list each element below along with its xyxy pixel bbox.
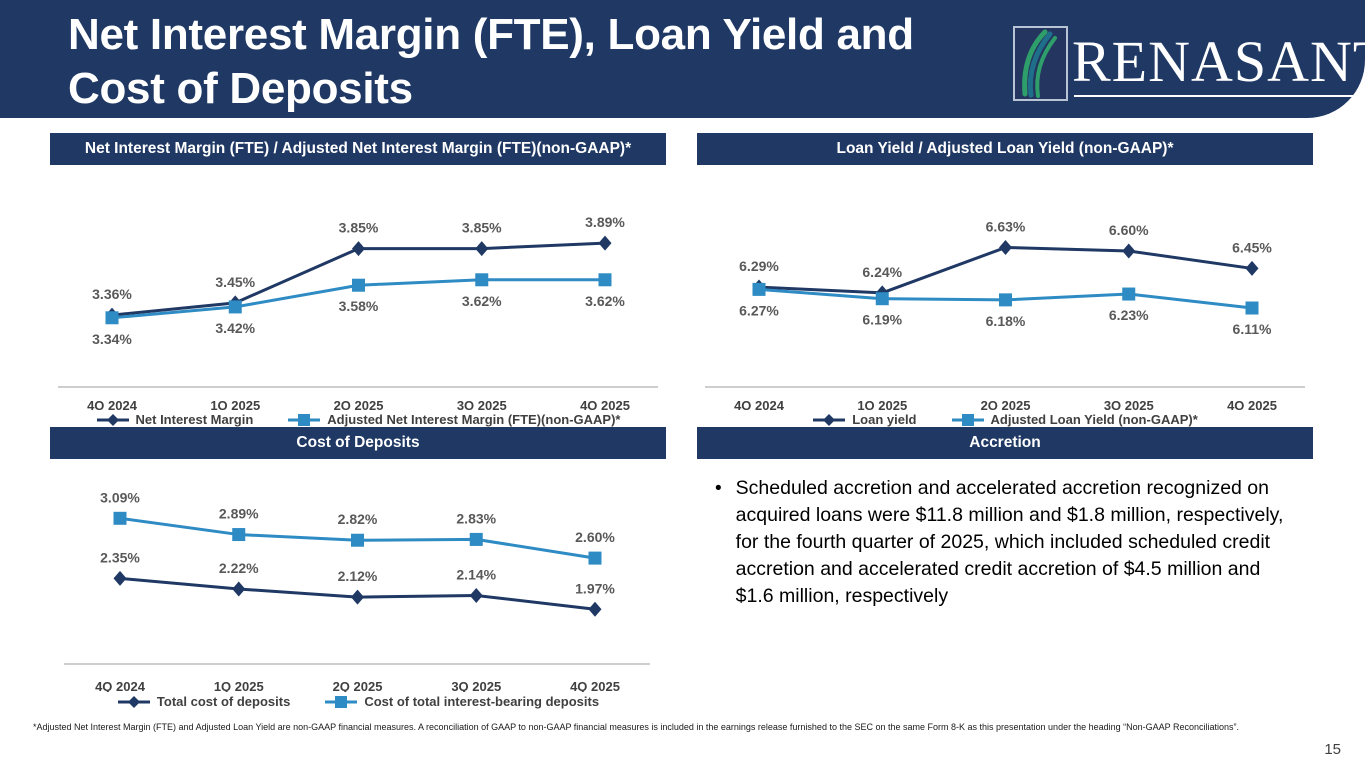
svg-text:4Q 2025: 4Q 2025 <box>580 398 630 410</box>
svg-text:1Q 2025: 1Q 2025 <box>857 398 907 410</box>
svg-text:2Q 2025: 2Q 2025 <box>334 398 384 410</box>
list-item: • Scheduled accretion and accelerated ac… <box>715 475 1299 610</box>
legend-marker-square-icon <box>951 414 985 426</box>
panel-loan-yield: Loan Yield / Adjusted Loan Yield (non-GA… <box>697 133 1313 427</box>
svg-text:2.60%: 2.60% <box>575 529 615 545</box>
legend-label-nim-1: Adjusted Net Interest Margin (FTE)(non-G… <box>327 412 620 427</box>
chart-canvas-nim: 3.36%3.45%3.85%3.85%3.89%3.34%3.42%3.58%… <box>50 165 666 410</box>
svg-text:3.34%: 3.34% <box>92 331 132 347</box>
legend-label-loan-yield-1: Adjusted Loan Yield (non-GAAP)* <box>991 412 1198 427</box>
svg-text:6.27%: 6.27% <box>739 302 779 318</box>
legend-label-cost-of-deposits-0: Total cost of deposits <box>157 694 290 709</box>
accretion-content: • Scheduled accretion and accelerated ac… <box>697 459 1313 610</box>
legend-item-nim-1[interactable]: Adjusted Net Interest Margin (FTE)(non-G… <box>287 412 620 427</box>
svg-text:6.60%: 6.60% <box>1109 222 1149 238</box>
svg-text:3Q 2025: 3Q 2025 <box>457 398 507 410</box>
page-title: Net Interest Margin (FTE), Loan Yield an… <box>68 8 968 116</box>
panel-title-cost-of-deposits: Cost of Deposits <box>50 427 666 459</box>
legend-nim: Net Interest Margin Adjusted Net Interes… <box>50 412 666 427</box>
renasant-logo: RENASANT <box>1013 26 1365 101</box>
svg-text:6.29%: 6.29% <box>739 258 779 274</box>
svg-text:1Q 2025: 1Q 2025 <box>210 398 260 410</box>
legend-marker-diamond-icon <box>117 696 151 708</box>
svg-text:3.36%: 3.36% <box>92 286 132 302</box>
svg-text:2Q 2025: 2Q 2025 <box>981 398 1031 410</box>
svg-text:4Q 2024: 4Q 2024 <box>95 679 146 692</box>
svg-text:6.24%: 6.24% <box>862 264 902 280</box>
bullet-icon: • <box>715 475 722 610</box>
footnote: *Adjusted Net Interest Margin (FTE) and … <box>33 721 1253 734</box>
logo-wordmark-text: RENASANT <box>1072 29 1365 94</box>
svg-text:3Q 2025: 3Q 2025 <box>451 679 501 692</box>
svg-text:2.35%: 2.35% <box>100 549 140 565</box>
chart-cost-of-deposits: 2.35%2.22%2.12%2.14%1.97%3.09%2.89%2.82%… <box>50 459 666 709</box>
svg-text:6.45%: 6.45% <box>1232 239 1272 255</box>
svg-text:4Q 2025: 4Q 2025 <box>570 679 620 692</box>
svg-text:3Q 2025: 3Q 2025 <box>1104 398 1154 410</box>
svg-text:4Q 2024: 4Q 2024 <box>87 398 138 410</box>
legend-marker-diamond-icon <box>96 414 130 426</box>
svg-text:3.85%: 3.85% <box>462 220 502 236</box>
svg-text:6.18%: 6.18% <box>986 313 1026 329</box>
panel-accretion: Accretion • Scheduled accretion and acce… <box>697 427 1313 610</box>
logo-swoosh-icon <box>1015 28 1066 99</box>
legend-cost-of-deposits: Total cost of deposits Cost of total int… <box>50 694 666 709</box>
logo-underline <box>1074 95 1365 97</box>
svg-text:3.09%: 3.09% <box>100 489 140 505</box>
svg-text:6.19%: 6.19% <box>862 312 902 328</box>
svg-text:2.12%: 2.12% <box>338 568 378 584</box>
panel-title-nim: Net Interest Margin (FTE) / Adjusted Net… <box>50 133 666 165</box>
svg-text:3.42%: 3.42% <box>215 320 255 336</box>
svg-text:1Q 2025: 1Q 2025 <box>214 679 264 692</box>
svg-text:2.14%: 2.14% <box>456 566 496 582</box>
svg-text:6.11%: 6.11% <box>1233 321 1272 337</box>
svg-text:2.89%: 2.89% <box>219 506 259 522</box>
legend-marker-diamond-icon <box>812 414 846 426</box>
svg-text:3.45%: 3.45% <box>215 274 255 290</box>
legend-item-cost-of-deposits-0[interactable]: Total cost of deposits <box>117 694 290 709</box>
panel-title-loan-yield: Loan Yield / Adjusted Loan Yield (non-GA… <box>697 133 1313 165</box>
svg-text:2.82%: 2.82% <box>338 511 378 527</box>
legend-item-nim-0[interactable]: Net Interest Margin <box>96 412 254 427</box>
legend-label-loan-yield-0: Loan yield <box>852 412 916 427</box>
page-number: 15 <box>1324 741 1341 758</box>
chart-nim: 3.36%3.45%3.85%3.85%3.89%3.34%3.42%3.58%… <box>50 165 666 427</box>
svg-text:2.22%: 2.22% <box>219 560 259 576</box>
panel-net-interest-margin: Net Interest Margin (FTE) / Adjusted Net… <box>50 133 666 427</box>
chart-canvas-cost-of-deposits: 2.35%2.22%2.12%2.14%1.97%3.09%2.89%2.82%… <box>50 459 666 692</box>
legend-label-nim-0: Net Interest Margin <box>136 412 254 427</box>
logo-wordmark: RENASANT <box>1072 33 1365 95</box>
chart-canvas-loan-yield: 6.29%6.24%6.63%6.60%6.45%6.27%6.19%6.18%… <box>697 165 1313 410</box>
svg-text:4Q 2025: 4Q 2025 <box>1227 398 1277 410</box>
legend-item-loan-yield-0[interactable]: Loan yield <box>812 412 916 427</box>
svg-text:2Q 2025: 2Q 2025 <box>333 679 383 692</box>
svg-text:6.63%: 6.63% <box>986 218 1026 234</box>
svg-text:1.97%: 1.97% <box>575 580 615 596</box>
svg-text:2.83%: 2.83% <box>456 510 496 526</box>
panel-cost-of-deposits: Cost of Deposits 2.35%2.22%2.12%2.14%1.9… <box>50 427 666 709</box>
svg-text:3.62%: 3.62% <box>585 293 625 309</box>
legend-marker-square-icon <box>287 414 321 426</box>
legend-loan-yield: Loan yield Adjusted Loan Yield (non-GAAP… <box>697 412 1313 427</box>
legend-item-cost-of-deposits-1[interactable]: Cost of total interest-bearing deposits <box>324 694 599 709</box>
svg-text:6.23%: 6.23% <box>1109 307 1149 323</box>
chart-loan-yield: 6.29%6.24%6.63%6.60%6.45%6.27%6.19%6.18%… <box>697 165 1313 427</box>
svg-text:3.89%: 3.89% <box>585 214 625 230</box>
accretion-bullet-text: Scheduled accretion and accelerated accr… <box>736 475 1299 610</box>
legend-label-cost-of-deposits-1: Cost of total interest-bearing deposits <box>364 694 599 709</box>
panel-title-accretion: Accretion <box>697 427 1313 459</box>
svg-text:3.85%: 3.85% <box>339 220 379 236</box>
legend-marker-square-icon <box>324 696 358 708</box>
logo-mark-icon <box>1013 26 1068 101</box>
svg-text:4Q 2024: 4Q 2024 <box>734 398 785 410</box>
legend-item-loan-yield-1[interactable]: Adjusted Loan Yield (non-GAAP)* <box>951 412 1198 427</box>
svg-text:3.58%: 3.58% <box>339 298 379 314</box>
svg-text:3.62%: 3.62% <box>462 293 502 309</box>
